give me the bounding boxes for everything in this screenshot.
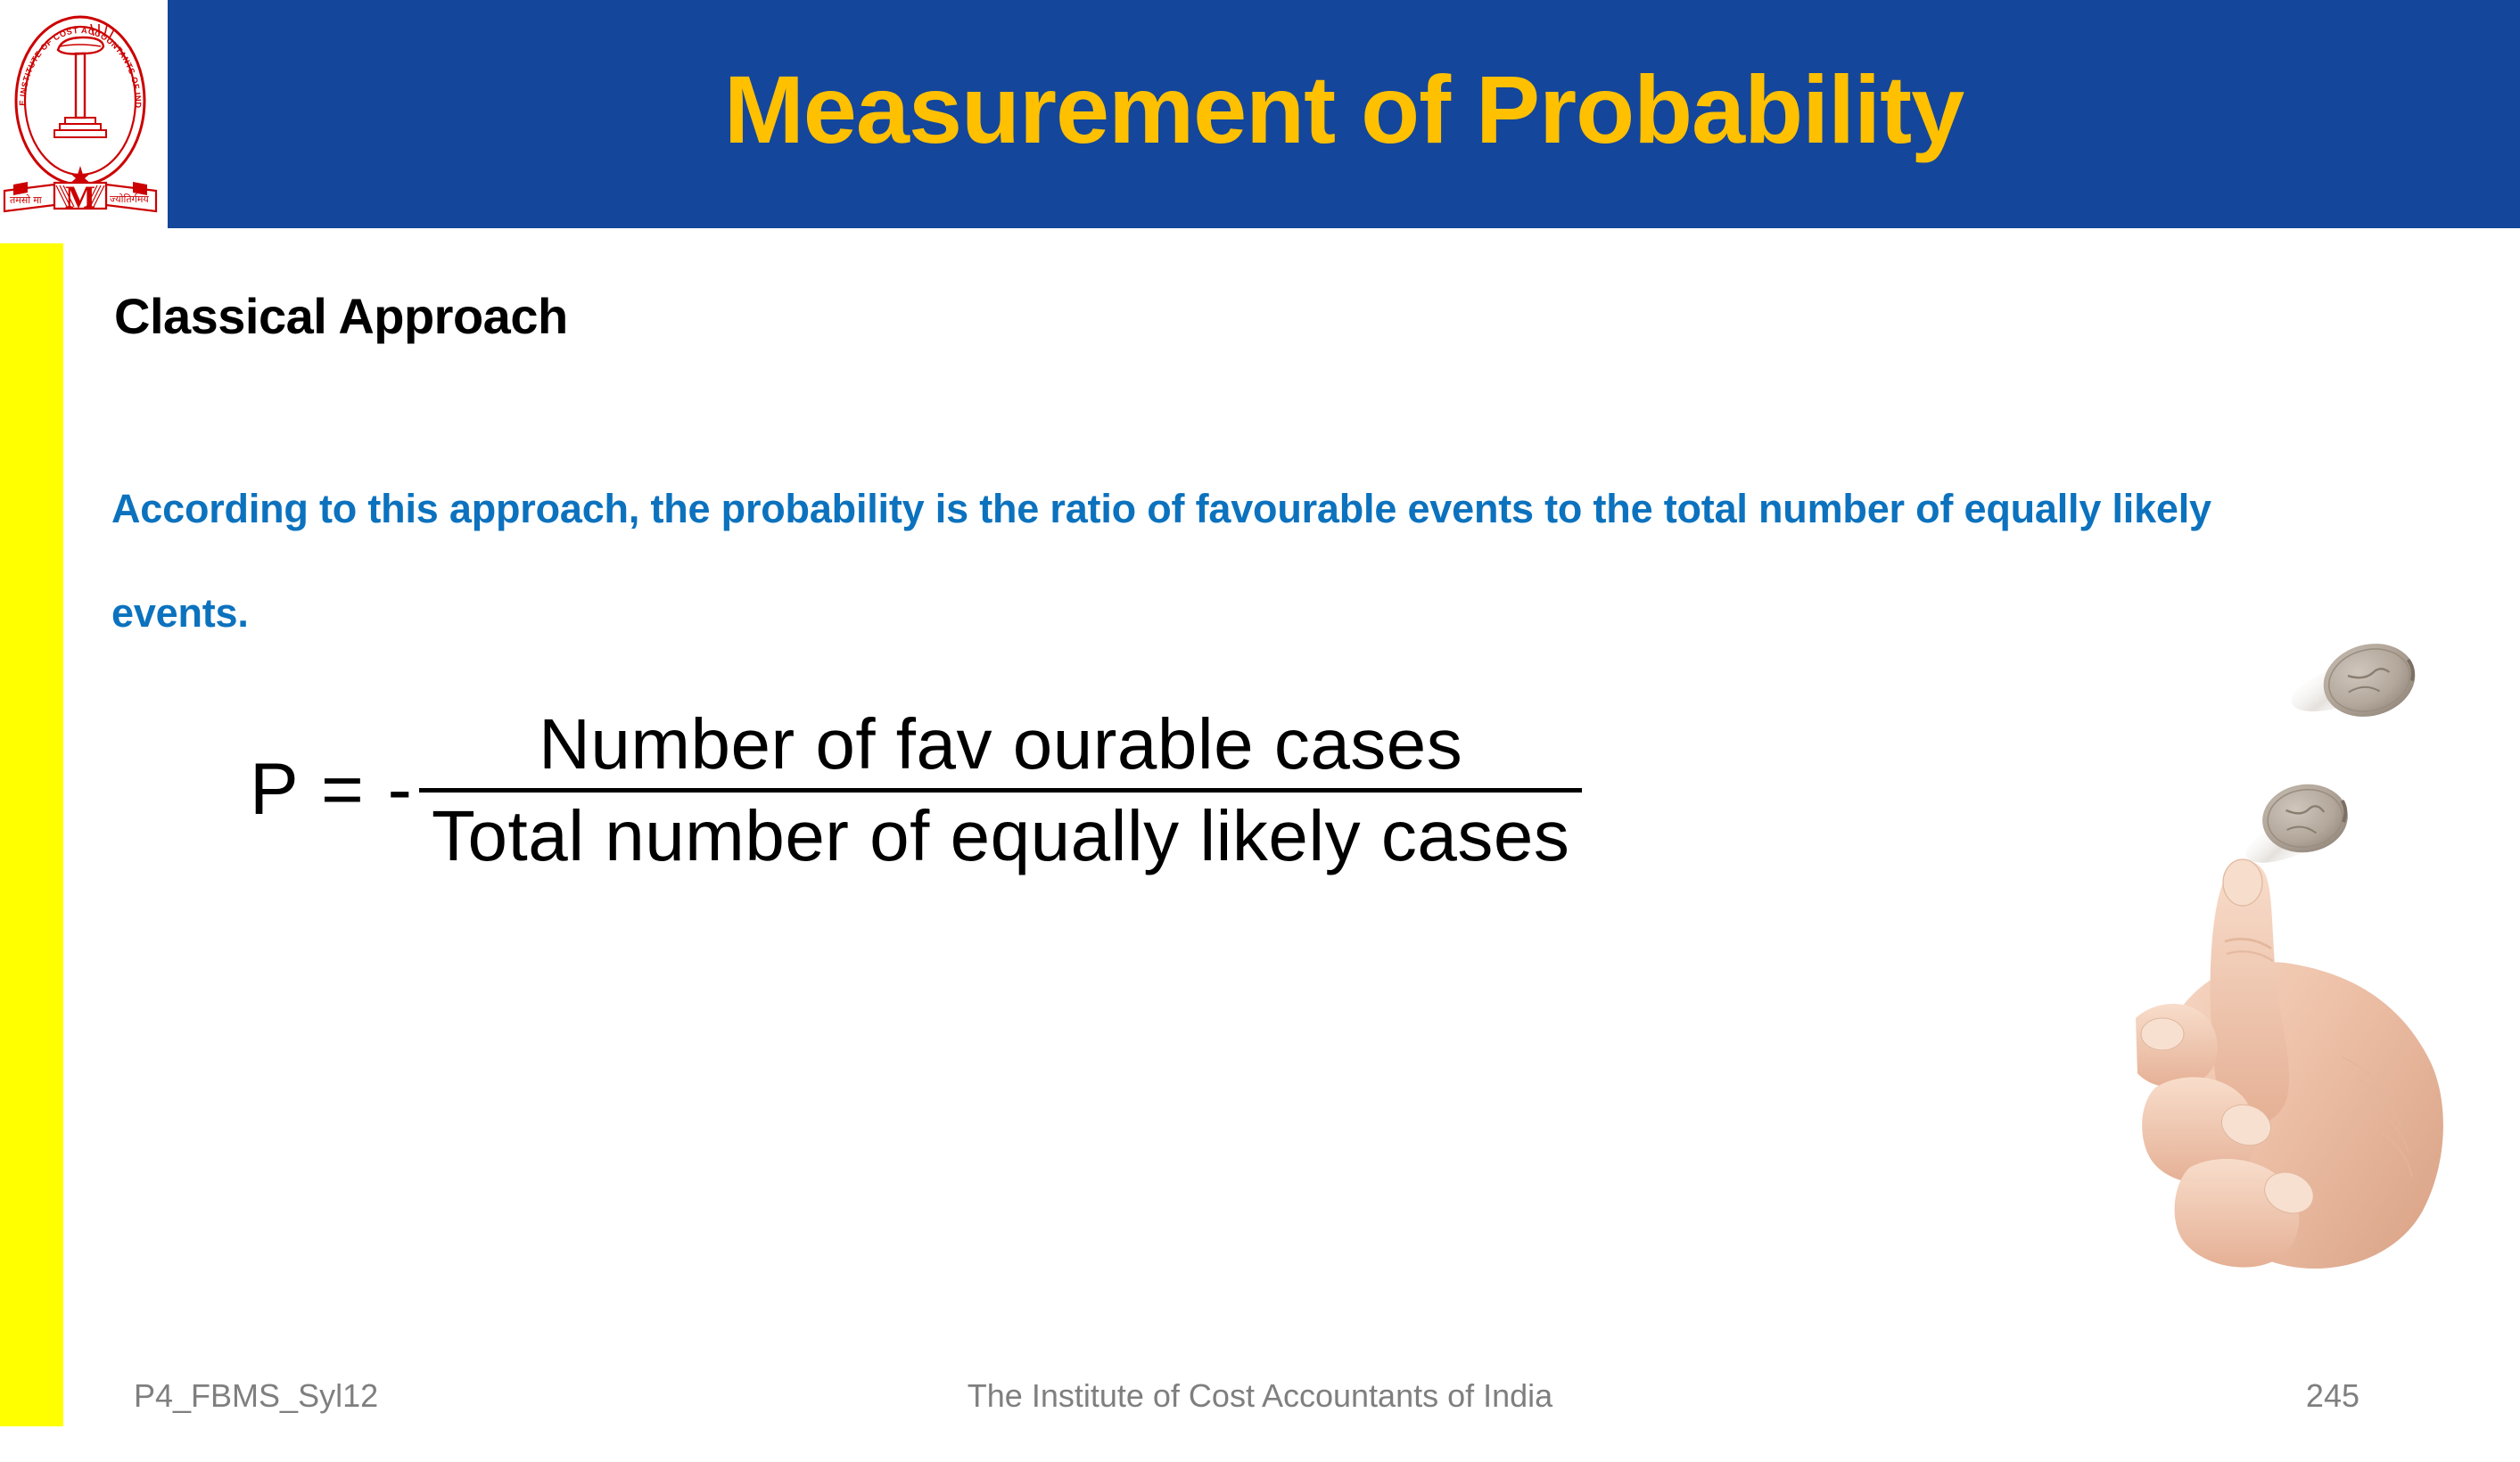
svg-text:ज्योतिर्गमय: ज्योतिर्गमय (110, 193, 149, 205)
section-heading: Classical Approach (114, 287, 568, 345)
svg-text:M: M (65, 179, 95, 215)
left-accent-stripe (0, 243, 63, 1426)
institute-logo: THE INSTITUTE OF COST ACCOUNTANTS OF IND… (0, 0, 161, 228)
body-paragraph: According to this approach, the probabil… (111, 456, 2323, 665)
formula-fraction-bar (419, 788, 1582, 793)
formula-denominator: Total number of equally likely cases (419, 796, 1582, 876)
footer-page-number: 245 (2306, 1377, 2359, 1415)
hand-flipping-coins-image (2136, 615, 2519, 1284)
emblem-icon: THE INSTITUTE OF COST ACCOUNTANTS OF IND… (1, 7, 160, 221)
svg-text:THE INSTITUTE OF COST ACCOUNTA: THE INSTITUTE OF COST ACCOUNTANTS OF IND… (1, 7, 143, 109)
svg-text:तमसो मा: तमसो मा (10, 194, 42, 206)
page-title: Measurement of Probability (168, 0, 2520, 228)
slide-canvas: Measurement of Probability THE INSTITUTE… (0, 0, 2520, 1462)
footer-institute-name: The Institute of Cost Accountants of Ind… (0, 1377, 2520, 1415)
formula-fraction: Number of fav ourable cases Total number… (419, 704, 1582, 875)
formula-numerator: Number of fav ourable cases (419, 704, 1582, 784)
probability-formula: P = - Number of fav ourable cases Total … (250, 704, 1582, 875)
formula-left-side: P = - (250, 753, 419, 826)
